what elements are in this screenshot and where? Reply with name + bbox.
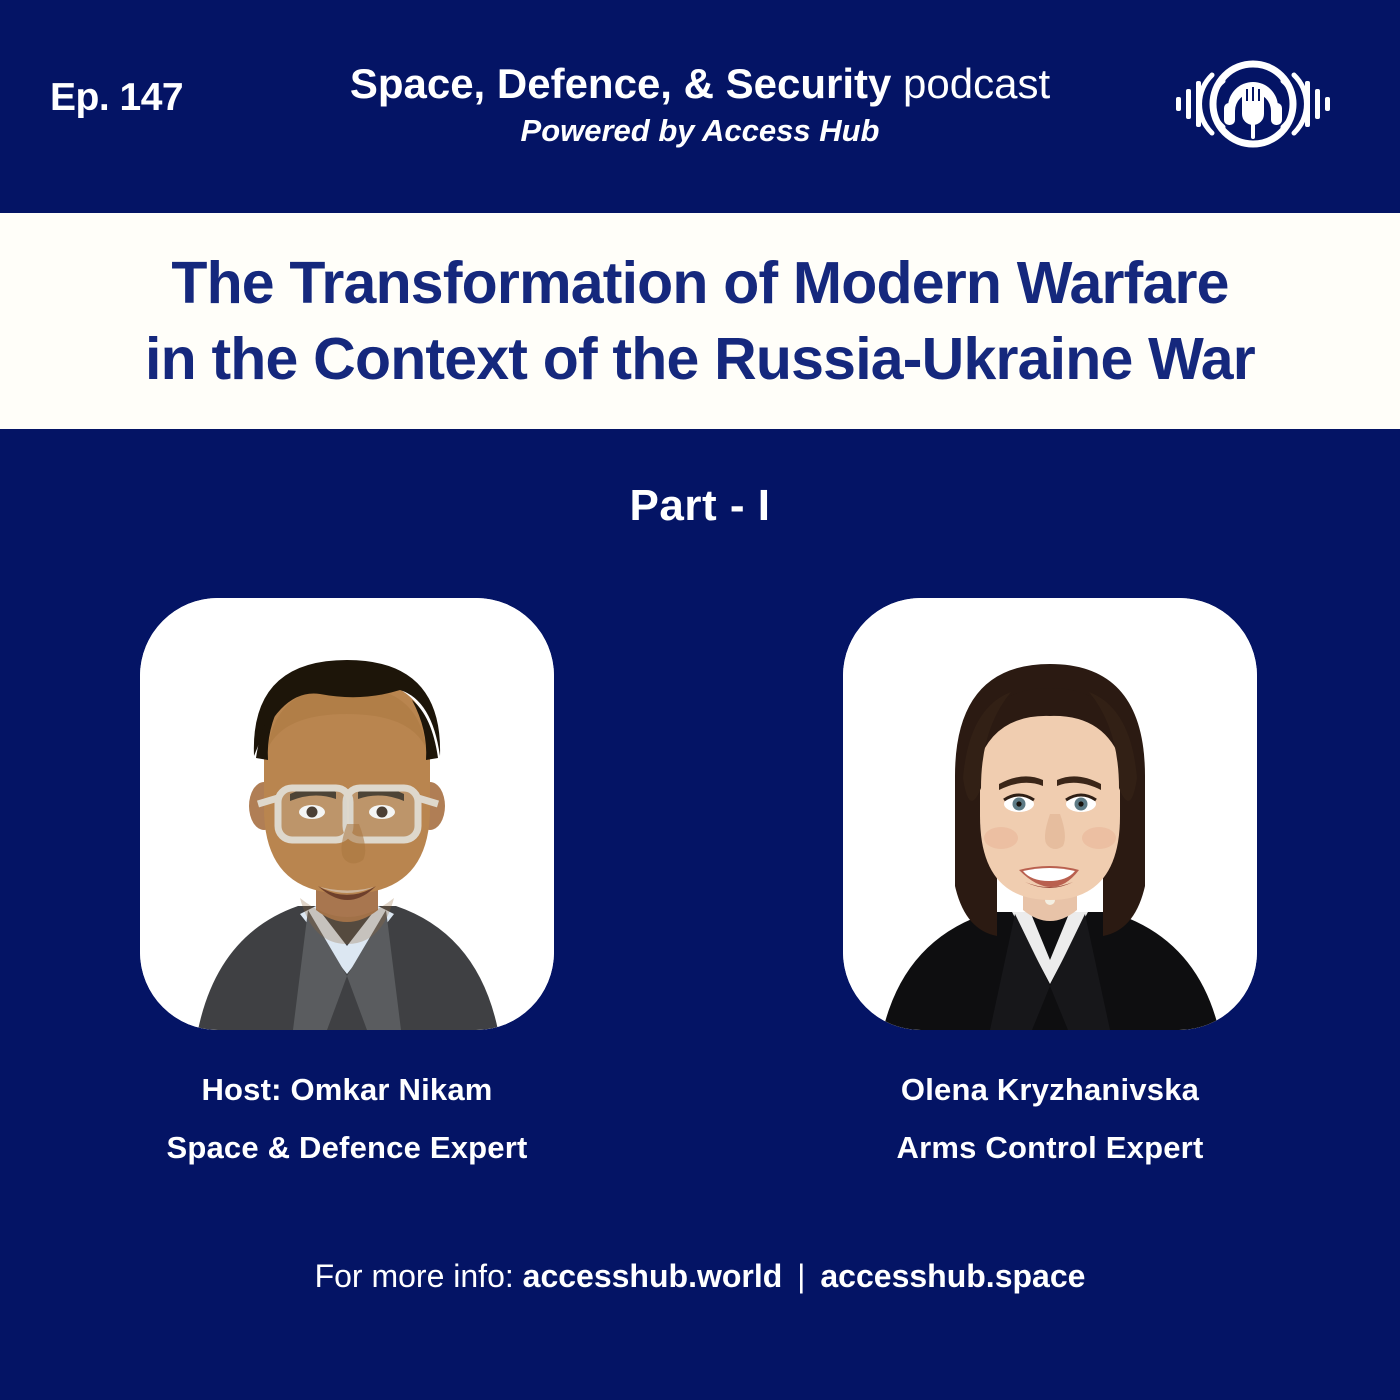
participant-name: Host: Omkar Nikam	[140, 1070, 554, 1110]
participant-photo-card	[140, 598, 554, 1030]
show-title-light: podcast	[891, 60, 1050, 107]
participants-section: Host: Omkar Nikam Space & Defence Expert	[0, 598, 1400, 1158]
participant-host: Host: Omkar Nikam Space & Defence Expert	[140, 598, 554, 1168]
part-label: Part - I	[0, 481, 1400, 531]
show-title: Space, Defence, & Security podcast	[320, 58, 1080, 110]
portrait-omkar-nikam	[140, 598, 554, 1030]
footer-link-accesshub-space[interactable]: accesshub.space	[820, 1258, 1085, 1294]
footer-separator: |	[791, 1258, 811, 1294]
participant-guest: Olena Kryzhanivska Arms Control Expert	[843, 598, 1257, 1168]
footer-lead-label: For more info:	[315, 1258, 514, 1294]
episode-title-band: The Transformation of Modern Warfare in …	[0, 213, 1400, 429]
podcast-microphone-soundwave-icon	[1168, 45, 1338, 163]
show-title-strong: Space, Defence, & Security	[350, 60, 892, 107]
participant-caption: Olena Kryzhanivska Arms Control Expert	[843, 1070, 1257, 1168]
footer-link-accesshub-world[interactable]: accesshub.world	[523, 1258, 783, 1294]
header-bar: Ep. 147 Space, Defence, & Security podca…	[0, 0, 1400, 213]
participant-role: Space & Defence Expert	[140, 1128, 554, 1168]
participant-caption: Host: Omkar Nikam Space & Defence Expert	[140, 1070, 554, 1168]
footer-info: For more info: accesshub.world | accessh…	[0, 1258, 1400, 1295]
participant-role: Arms Control Expert	[843, 1128, 1257, 1168]
participant-name: Olena Kryzhanivska	[843, 1070, 1257, 1110]
powered-by-label: Powered by Access Hub	[320, 110, 1080, 152]
participant-photo-card	[843, 598, 1257, 1030]
episode-title-line-2: in the Context of the Russia-Ukraine War	[145, 321, 1255, 397]
portrait-olena-kryzhanivska	[843, 598, 1257, 1030]
episode-title-line-1: The Transformation of Modern Warfare	[171, 245, 1228, 321]
episode-number: Ep. 147	[50, 76, 183, 120]
show-identity: Space, Defence, & Security podcast Power…	[320, 58, 1080, 152]
